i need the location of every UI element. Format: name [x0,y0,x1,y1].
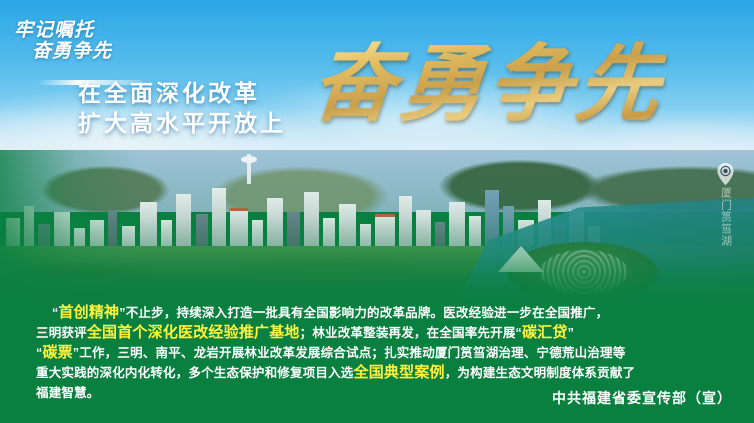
body-line-3: “碳票”工作，三明、南平、龙岩开展林业改革发展综合试点；扎实推动厦门筼筜湖治理、… [36,343,720,363]
subtitle-block: 在全面深化改革 扩大高水平开放上 [78,78,286,138]
body-line-1: “首创精神”不止步，持续深入打造一批具有全国影响力的改革品牌。医改经验进一步在全… [36,303,720,323]
highlight-tanhuidai: 碳汇贷 [522,324,568,341]
subtitle-line-1: 在全面深化改革 [78,78,286,108]
publisher-signature: 中共福建省委宣传部（宣） [552,388,732,408]
body-text-4b: ，为构建生态文明制度体系贡献了 [445,366,636,380]
highlight-dianxing-anli: 全国典型案例 [354,364,445,381]
body-line-2: 三明获评全国首个深化医改经验推广基地；林业改革整装再发，在全国率先开展“碳汇贷” [36,323,720,343]
body-text-1b: ”不止步，持续深入打造一批具有全国影响力的改革品牌。医改经验进一步在全国推广， [119,306,608,320]
body-text-2b: ；林业改革整装再发，在全国率先开展“ [300,326,522,340]
highlight-chuangxin: 首创精神 [58,304,119,321]
body-text-3b: ”工作，三明、南平、龙岩开展林业改革发展综合试点；扎实推动厦门筼筜湖治理、宁德荒… [73,346,626,360]
quote-close-2: ” [568,326,574,340]
logo-line-2: 奋勇争先 [32,41,144,62]
highlight-yigai-jidi: 全国首个深化医改经验推广基地 [87,324,300,341]
city-aerial-photo [0,150,754,315]
subtitle-line-2: 扩大高水平开放上 [78,108,286,138]
highlight-tanpiao: 碳票 [42,344,72,361]
location-tag: 厦门筼筜湖 [708,163,742,247]
campaign-logo: 牢记嘱托 奋勇争先 [14,20,144,62]
body-text-4a: 重大实践的深化内化转化，多个生态保护和修复项目入选 [36,366,354,380]
body-text-2a: 三明获评 [36,326,87,340]
location-label: 厦门筼筜湖 [719,187,732,247]
photo-left-tint [0,150,140,315]
poster-canvas: 牢记嘱托 奋勇争先 在全面深化改革 扩大高水平开放上 奋勇争先 厦门筼筜湖 “首… [0,0,754,423]
map-pin-icon [717,163,734,185]
body-line-4: 重大实践的深化内化转化，多个生态保护和修复项目入选全国典型案例，为构建生态文明制… [36,363,720,383]
calligraphy-headline: 奋勇争先 [308,38,668,130]
logo-line-1: 牢记嘱托 [14,20,144,41]
